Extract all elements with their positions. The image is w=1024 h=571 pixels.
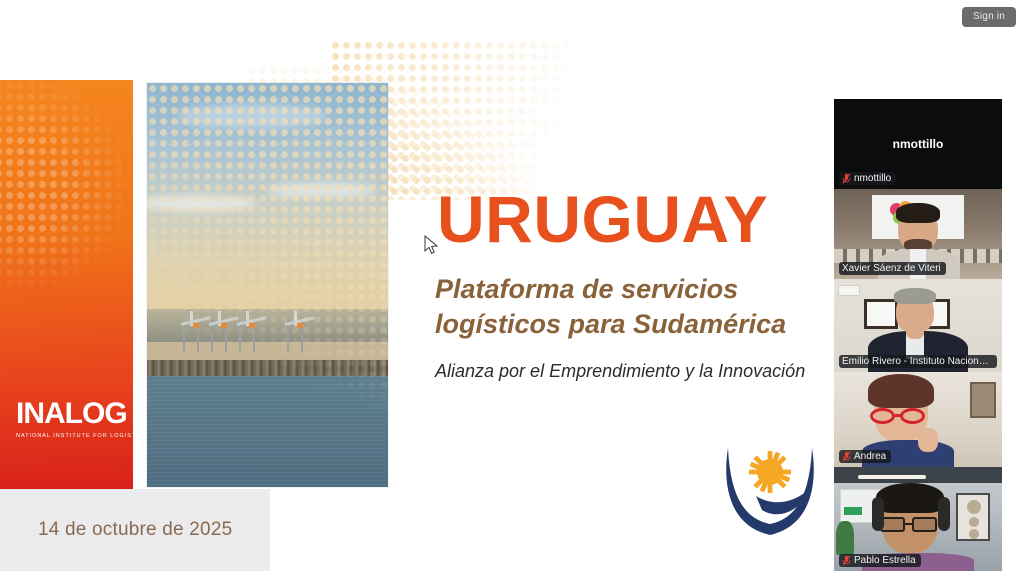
participant-tile-xavier[interactable]: Xavier Sáenz de Viteri [834, 189, 1002, 279]
slide-title: URUGUAY [437, 186, 768, 252]
participant-name-label: Xavier Sáenz de Viteri [842, 263, 941, 274]
uruguay-sun-emblem-icon [716, 434, 824, 549]
bar-dot-pattern [0, 80, 133, 340]
self-video-tile[interactable]: nmottillo nmottillo [834, 99, 1002, 189]
port-photo [147, 83, 388, 487]
slide-date: 14 de octubre de 2025 [38, 519, 232, 541]
slide-subtitle-line1: Plataforma de servicios [435, 272, 835, 307]
participant-name-label: Andrea [854, 451, 886, 462]
slide-subtitle: Plataforma de servicios logísticos para … [435, 272, 835, 341]
participant-tile-andrea[interactable]: Andrea [834, 372, 1002, 467]
tile-sticky-note [844, 507, 862, 515]
tile-wall-picture [864, 299, 898, 329]
mic-muted-icon [842, 555, 851, 566]
participant-name-chip: Emilio Rivero - Instituto Nacional d… [839, 355, 997, 368]
tile-person-hair [876, 483, 944, 513]
slide-subtitle-line2: logísticos para Sudamérica [435, 307, 835, 342]
mic-muted-icon [842, 173, 851, 184]
participant-name-chip: Andrea [839, 450, 891, 463]
participant-tile-emilio[interactable]: Emilio Rivero - Instituto Nacional d… [834, 279, 1002, 372]
tile-plant [836, 521, 854, 555]
participant-name-label: Emilio Rivero - Instituto Nacional d… [842, 356, 992, 367]
tile-person-hair [894, 288, 936, 304]
sign-in-button[interactable]: Sign in [962, 7, 1016, 27]
tile-person-hand [906, 323, 924, 339]
tile-ceiling-light [858, 475, 926, 479]
tile-person-hair [868, 374, 934, 408]
tile-wall-picture [970, 382, 996, 418]
self-display-name: nmottillo [834, 137, 1002, 151]
participant-tile-pablo[interactable]: Pablo Estrella [834, 467, 1002, 571]
inalog-logo-tagline: NATIONAL INSTITUTE FOR LOGISTICS [16, 433, 133, 439]
tile-standing-banner [956, 493, 990, 541]
self-name-label: nmottillo [854, 173, 891, 184]
tile-eyeglasses-icon [880, 517, 940, 532]
slide-tagline: Alianza por el Emprendimiento y la Innov… [435, 361, 805, 382]
mic-muted-icon [842, 451, 851, 462]
participant-name-label: Pablo Estrella [854, 555, 916, 566]
tile-person-hand [918, 428, 938, 452]
inalog-logo-mark: INALOG [16, 399, 133, 429]
presentation-slide: INALOG NATIONAL INSTITUTE FOR LOGISTICS [0, 0, 835, 571]
participant-name-chip: Xavier Sáenz de Viteri [839, 262, 946, 275]
tile-person-hair [896, 203, 940, 223]
photo-dot-overlay [147, 83, 388, 487]
brand-color-bar: INALOG NATIONAL INSTITUTE FOR LOGISTICS [0, 80, 133, 489]
mouse-cursor [424, 235, 440, 262]
video-participant-rail: nmottillo nmottillo [834, 99, 1002, 571]
participant-name-chip: Pablo Estrella [839, 554, 921, 567]
tile-eyeglasses-icon [870, 408, 928, 424]
tile-headset-icon [938, 497, 950, 531]
tile-headset-icon [872, 497, 884, 531]
screen-root: Sign in INALOG NATIONAL INSTITUTE FOR LO… [0, 0, 1024, 571]
inalog-logo: INALOG NATIONAL INSTITUTE FOR LOGISTICS [16, 399, 133, 439]
self-name-chip: nmottillo [839, 172, 896, 185]
tile-air-conditioner [838, 285, 860, 296]
